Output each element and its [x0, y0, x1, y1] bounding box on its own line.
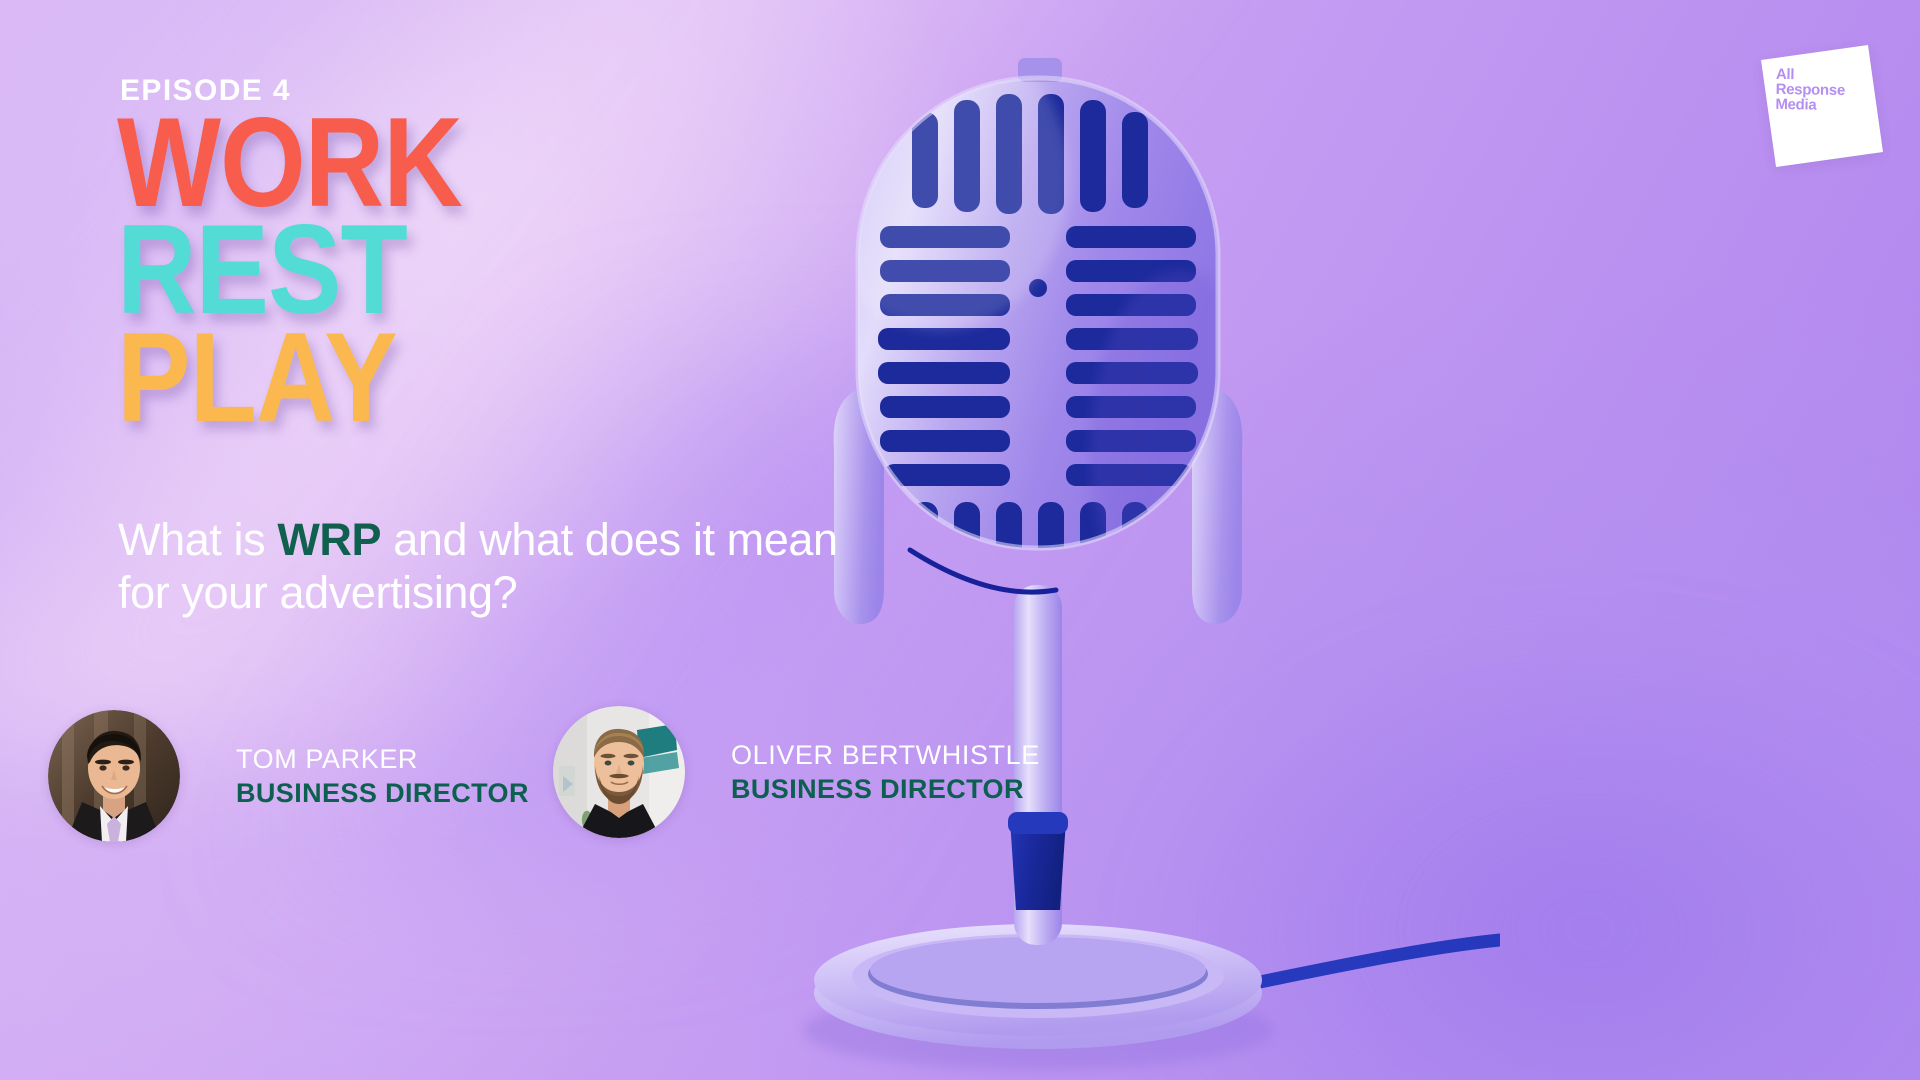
title-word-play: PLAY: [117, 327, 462, 431]
show-title: WORK REST PLAY: [117, 112, 442, 434]
all-response-media-logo: All Response Media: [1761, 45, 1883, 167]
speaker-info-tom-parker: TOM PARKER BUSINESS DIRECTOR: [236, 744, 529, 809]
episode-subtitle: What is WRP and what does it mean for yo…: [118, 513, 838, 619]
speaker-name: OLIVER BERTWHISTLE: [731, 740, 1040, 771]
speaker-card-oliver-bertwhistle: OLIVER BERTWHISTLE BUSINESS DIRECTOR: [553, 706, 1040, 838]
poster-canvas: EPISODE 4 WORK REST PLAY What is WRP and…: [0, 0, 1920, 1080]
avatar-oliver-bertwhistle: [553, 706, 685, 838]
speaker-card-tom-parker: TOM PARKER BUSINESS DIRECTOR: [48, 710, 529, 842]
avatar-tom-parker: [48, 710, 180, 842]
speaker-info-oliver-bertwhistle: OLIVER BERTWHISTLE BUSINESS DIRECTOR: [731, 740, 1040, 805]
speaker-role: BUSINESS DIRECTOR: [236, 778, 529, 809]
speaker-name: TOM PARKER: [236, 744, 529, 775]
speaker-role: BUSINESS DIRECTOR: [731, 774, 1040, 805]
logo-line-3: Media: [1775, 97, 1845, 113]
logo-wordmark: All Response Media: [1775, 67, 1845, 113]
subtitle-highlight-wrp: WRP: [277, 514, 381, 565]
retro-microphone-icon: [760, 30, 1500, 1080]
subtitle-text-before: What is: [118, 514, 277, 565]
